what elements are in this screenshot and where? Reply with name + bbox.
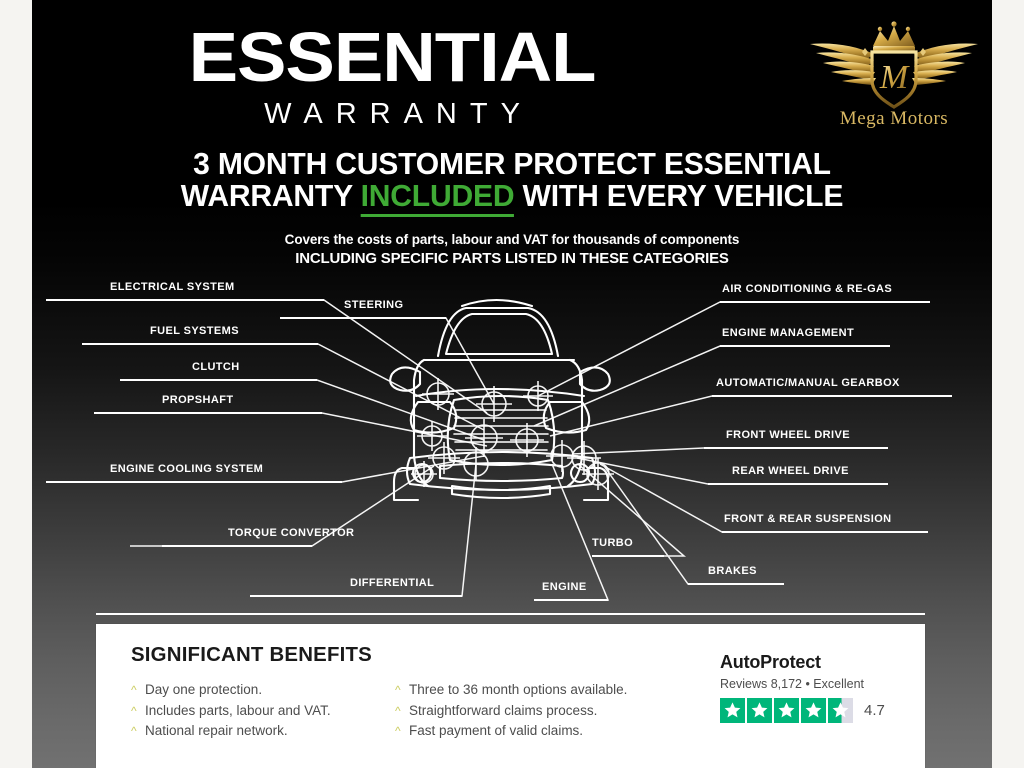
- benefit-text: Includes parts, labour and VAT.: [145, 701, 331, 722]
- label-engine: ENGINE: [542, 581, 587, 593]
- subtitle: Covers the costs of parts, labour and VA…: [32, 232, 992, 268]
- benefit-text: Straightforward claims process.: [409, 701, 597, 722]
- benefits-title: SIGNIFICANT BENEFITS: [131, 644, 372, 667]
- chevron-up-icon: ^: [131, 680, 145, 701]
- headline: 3 MONTH CUSTOMER PROTECT ESSENTIAL WARRA…: [46, 148, 977, 212]
- star-filled-icon: [720, 698, 745, 723]
- headline-line2-before: WARRANTY: [181, 178, 361, 213]
- label-clutch: CLUTCH: [192, 361, 240, 373]
- benefit-item: ^ Day one protection.: [131, 680, 396, 701]
- trustpilot-score: 4.7: [864, 702, 885, 719]
- benefit-item: ^ National repair network.: [131, 721, 396, 742]
- benefit-text: National repair network.: [145, 721, 288, 742]
- label-brakes: BRAKES: [708, 565, 757, 577]
- benefit-item: ^ Straightforward claims process.: [395, 701, 685, 722]
- significant-benefits-card: SIGNIFICANT BENEFITS ^ Day one protectio…: [96, 624, 925, 768]
- label-torque-convertor: TORQUE CONVERTOR: [228, 527, 354, 539]
- star-filled-icon: [801, 698, 826, 723]
- hero-title-block: ESSENTIAL WARRANTY: [32, 22, 752, 131]
- benefit-text: Fast payment of valid claims.: [409, 721, 583, 742]
- hero-title-warranty: WARRANTY: [32, 97, 752, 131]
- label-automatic-manual-gearbox: AUTOMATIC/MANUAL GEARBOX: [716, 377, 900, 389]
- logo-wordmark: Mega Motors: [796, 108, 992, 130]
- trustpilot-brand-name: AutoProtect: [720, 652, 920, 673]
- chevron-up-icon: ^: [395, 680, 409, 701]
- label-turbo: TURBO: [592, 537, 633, 549]
- winged-crown-crest-icon: M: [796, 18, 992, 112]
- car-front-line-art: [390, 300, 610, 500]
- subtitle-line-2: INCLUDING SPECIFIC PARTS LISTED IN THESE…: [32, 250, 992, 268]
- benefit-item: ^ Fast payment of valid claims.: [395, 721, 685, 742]
- label-front-rear-suspension: FRONT & REAR SUSPENSION: [724, 513, 892, 525]
- chevron-up-icon: ^: [131, 721, 145, 742]
- trustpilot-stars-row: 4.7: [720, 698, 920, 723]
- mega-motors-logo: M Mega Motors: [796, 18, 992, 136]
- benefit-text: Day one protection.: [145, 680, 262, 701]
- label-electrical-system: ELECTRICAL SYSTEM: [110, 281, 235, 293]
- benefit-item: ^ Three to 36 month options available.: [395, 680, 685, 701]
- trustpilot-rating-widget[interactable]: AutoProtect Reviews 8,172 • Excellent: [720, 652, 920, 723]
- hero-title-essential: ESSENTIAL: [32, 22, 774, 92]
- trustpilot-reviews-line: Reviews 8,172 • Excellent: [720, 677, 920, 691]
- label-front-wheel-drive: FRONT WHEEL DRIVE: [726, 429, 850, 441]
- headline-line2-after: WITH EVERY VEHICLE: [514, 178, 843, 213]
- m-monogram: M: [879, 59, 910, 96]
- benefit-text: Three to 36 month options available.: [409, 680, 627, 701]
- crown-icon: [873, 21, 915, 51]
- label-rear-wheel-drive: REAR WHEEL DRIVE: [732, 465, 849, 477]
- headline-line-2: WARRANTY INCLUDED WITH EVERY VEHICLE: [46, 180, 977, 212]
- benefits-column-left: ^ Day one protection. ^ Includes parts, …: [131, 680, 396, 742]
- subtitle-line-1: Covers the costs of parts, labour and VA…: [32, 232, 992, 248]
- star-filled-icon: [747, 698, 772, 723]
- label-fuel-systems: FUEL SYSTEMS: [150, 325, 239, 337]
- poster-dark-area: ESSENTIAL WARRANTY: [32, 0, 992, 768]
- benefit-item: ^ Includes parts, labour and VAT.: [131, 701, 396, 722]
- benefits-column-right: ^ Three to 36 month options available. ^…: [395, 680, 685, 742]
- warranty-coverage-diagram: ELECTRICAL SYSTEM FUEL SYSTEMS CLUTCH PR…: [32, 268, 992, 608]
- chevron-up-icon: ^: [395, 721, 409, 742]
- label-propshaft: PROPSHAFT: [162, 394, 233, 406]
- label-engine-management: ENGINE MANAGEMENT: [722, 327, 854, 339]
- section-divider: [96, 613, 925, 615]
- headline-included-highlight: INCLUDED: [361, 178, 515, 217]
- chevron-up-icon: ^: [395, 701, 409, 722]
- star-filled-icon: [774, 698, 799, 723]
- label-air-conditioning: AIR CONDITIONING & RE-GAS: [722, 283, 892, 295]
- poster-page: ESSENTIAL WARRANTY: [0, 0, 1024, 768]
- label-steering: STEERING: [344, 299, 403, 311]
- star-half-icon: [828, 698, 853, 723]
- label-engine-cooling-system: ENGINE COOLING SYSTEM: [110, 463, 263, 475]
- label-differential: DIFFERENTIAL: [350, 577, 434, 589]
- headline-line-1: 3 MONTH CUSTOMER PROTECT ESSENTIAL: [46, 148, 977, 180]
- chevron-up-icon: ^: [131, 701, 145, 722]
